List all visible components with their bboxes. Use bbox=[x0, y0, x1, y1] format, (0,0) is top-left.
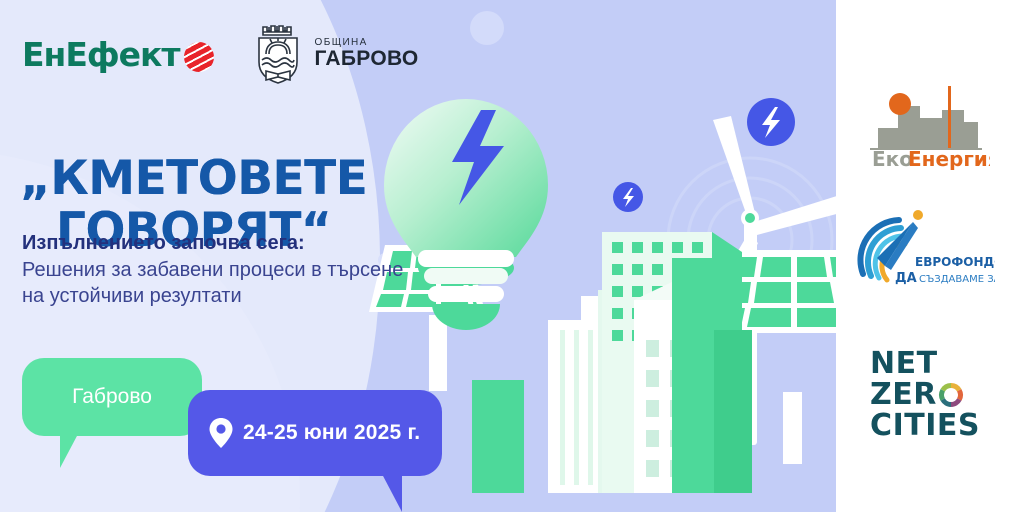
subtitle-body: Решения за забавени процеси в търсене на… bbox=[22, 257, 422, 310]
gabrovo-coat-of-arms-icon bbox=[250, 22, 306, 86]
net-zero-cities-logo: NET ZER CITIES bbox=[870, 348, 980, 442]
gabrovo-label-big: ГАБРОВО bbox=[315, 48, 419, 70]
striped-globe-icon bbox=[184, 42, 214, 72]
title-line-1: „КМЕТОВЕТЕ bbox=[20, 151, 367, 206]
nzc-line-2: ZER bbox=[870, 379, 937, 410]
banner-stage: ЕнЕфект bbox=[0, 0, 836, 512]
page-subtitle: Изпълнението започва сега: Решения за за… bbox=[22, 230, 422, 310]
svg-text:СЪЗДАВАМЕ ЗАЕДНО: СЪЗДАВАМЕ ЗАЕДНО bbox=[919, 274, 995, 285]
sponsor-sidebar: Еко Енергия ЕВРОФОНДОВЕТЕ ДА СЪЗДАВАМЕ З… bbox=[836, 0, 1014, 512]
lightning-bolt-badge-large bbox=[747, 98, 795, 146]
sun-icon bbox=[889, 93, 911, 115]
partner-logos-header: ЕнЕфект bbox=[22, 22, 419, 86]
event-banner: ЕнЕфект bbox=[0, 0, 1014, 512]
eneffect-wordmark: ЕнЕфект bbox=[22, 38, 180, 71]
date-bubble: 24-25 юни 2025 г. bbox=[188, 390, 442, 476]
svg-text:ДА: ДА bbox=[895, 271, 917, 286]
eko-energia-logo: Еко Енергия bbox=[860, 78, 990, 170]
nzc-line-1: NET bbox=[870, 348, 980, 379]
map-pin-icon bbox=[208, 417, 234, 449]
color-wheel-o-icon bbox=[938, 382, 964, 408]
svg-text:ЕВРОФОНДОВЕТЕ: ЕВРОФОНДОВЕТЕ bbox=[915, 255, 995, 269]
eneffect-logo: ЕнЕфект bbox=[22, 38, 214, 71]
location-label: Габрово bbox=[72, 385, 152, 409]
evrofondovete-logo: ЕВРОФОНДОВЕТЕ ДА СЪЗДАВАМЕ ЗАЕДНО bbox=[855, 204, 995, 296]
dot-icon bbox=[913, 210, 923, 220]
svg-text:Еко: Еко bbox=[872, 147, 913, 170]
deco-circle bbox=[470, 11, 504, 45]
nzc-line-3: CITIES bbox=[870, 410, 980, 441]
nzc-line-2-row: ZER bbox=[870, 379, 980, 410]
subtitle-lead: Изпълнението започва сега: bbox=[22, 230, 422, 257]
gabrovo-logo: ОБЩИНА ГАБРОВО bbox=[250, 22, 419, 86]
date-label: 24-25 юни 2025 г. bbox=[243, 421, 420, 445]
city-buildings bbox=[472, 232, 752, 493]
lightning-bolt-badge-small bbox=[613, 182, 643, 212]
location-bubble: Габрово bbox=[22, 358, 202, 436]
svg-text:Енергия: Енергия bbox=[908, 147, 990, 170]
